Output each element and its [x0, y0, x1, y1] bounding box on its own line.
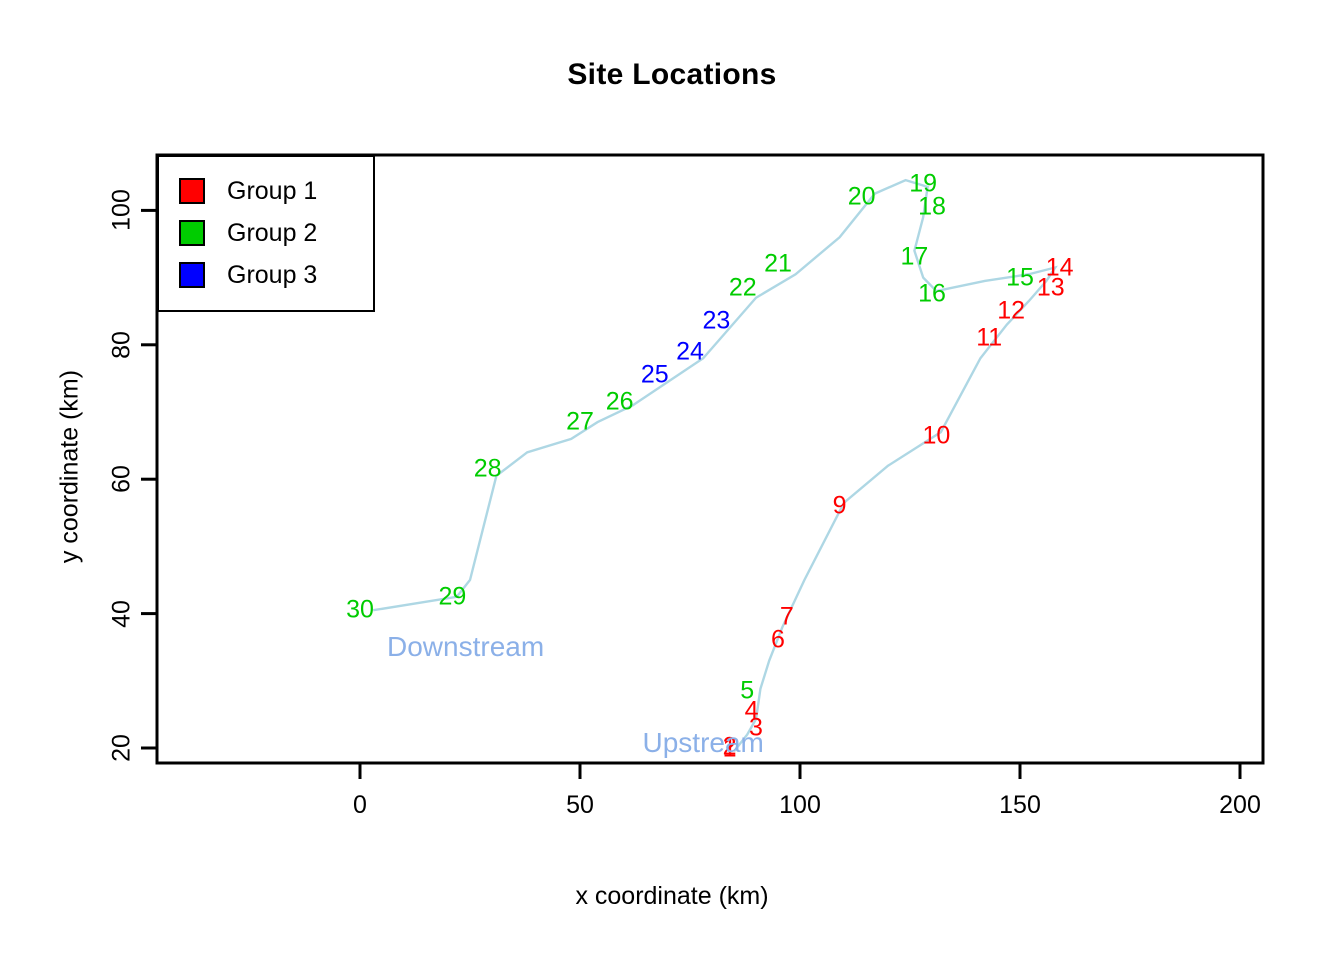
x-tick-label: 200 [1219, 791, 1261, 820]
y-tick-label: 100 [108, 185, 137, 235]
legend-swatch-icon [179, 178, 205, 204]
y-axis-title: y coordinate (km) [56, 277, 85, 657]
y-tick-label: 20 [108, 723, 137, 773]
site-label-21: 21 [764, 250, 792, 279]
y-tick-label: 40 [108, 589, 137, 639]
site-label-22: 22 [729, 273, 757, 302]
x-tick-label: 0 [353, 791, 367, 820]
annotation-upstream: Upstream [643, 727, 764, 759]
legend-label: Group 3 [227, 263, 317, 288]
site-label-14: 14 [1046, 253, 1074, 282]
site-label-9: 9 [833, 492, 847, 521]
annotation-downstream: Downstream [387, 631, 544, 663]
site-label-20: 20 [848, 182, 876, 211]
plot-area [0, 0, 1344, 960]
legend-item-3[interactable]: Group 3 [179, 255, 317, 295]
x-tick-label: 100 [779, 791, 821, 820]
site-label-27: 27 [566, 408, 594, 437]
x-axis-title: x coordinate (km) [0, 882, 1344, 911]
legend: Group 1Group 2Group 3 [157, 155, 375, 312]
site-label-23: 23 [702, 307, 730, 336]
site-label-12: 12 [997, 297, 1025, 326]
site-label-16: 16 [918, 280, 946, 309]
y-tick-label: 60 [108, 454, 137, 504]
legend-item-1[interactable]: Group 1 [179, 171, 317, 211]
legend-swatch-icon [179, 262, 205, 288]
x-tick-label: 150 [999, 791, 1041, 820]
site-label-19: 19 [909, 169, 937, 198]
chart-canvas: Site Locations 05010015020020406080100 1… [0, 0, 1344, 960]
site-label-15: 15 [1006, 263, 1034, 292]
y-tick-label: 80 [108, 320, 137, 370]
site-label-11: 11 [976, 324, 1002, 353]
site-label-7: 7 [780, 602, 794, 631]
legend-swatch-icon [179, 220, 205, 246]
site-label-10: 10 [922, 421, 950, 450]
site-label-5: 5 [740, 676, 754, 705]
site-label-17: 17 [900, 243, 928, 272]
site-label-26: 26 [606, 387, 634, 416]
legend-item-2[interactable]: Group 2 [179, 213, 317, 253]
site-label-24: 24 [676, 337, 704, 366]
site-label-30: 30 [346, 596, 374, 625]
x-tick-label: 50 [566, 791, 594, 820]
site-label-25: 25 [641, 361, 669, 390]
legend-label: Group 2 [227, 221, 317, 246]
legend-label: Group 1 [227, 179, 317, 204]
site-label-29: 29 [438, 582, 466, 611]
site-label-28: 28 [474, 455, 502, 484]
